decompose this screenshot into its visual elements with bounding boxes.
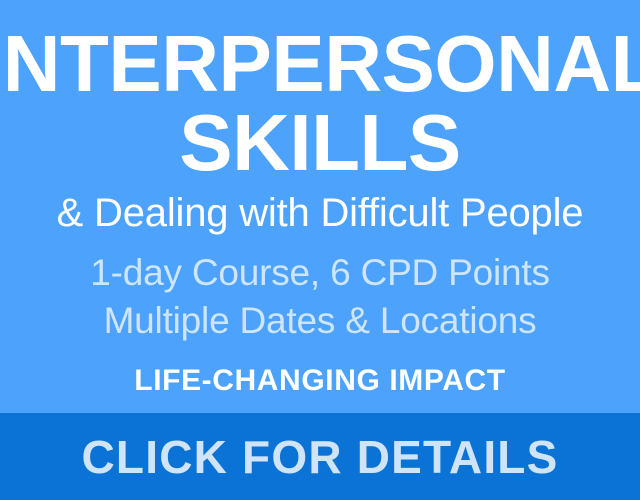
click-for-details-button[interactable]: CLICK FOR DETAILS [0,413,640,500]
subtitle: & Dealing with Difficult People [57,191,584,235]
detail-line-dates-locations: Multiple Dates & Locations [90,297,550,346]
tagline: LIFE-CHANGING IMPACT [134,366,505,396]
headline-line-2: SKILLS [0,105,640,182]
advertisement-banner: INTERPERSONAL SKILLS & Dealing with Diff… [0,0,640,500]
detail-line-course-length: 1-day Course, 6 CPD Points [90,249,550,298]
cta-label: CLICK FOR DETAILS [82,434,559,480]
headline-line-1: INTERPERSONAL [0,26,640,103]
course-details: 1-day Course, 6 CPD Points Multiple Date… [90,249,550,347]
banner-content: INTERPERSONAL SKILLS & Dealing with Diff… [0,0,640,413]
page-title: INTERPERSONAL SKILLS [0,26,640,182]
